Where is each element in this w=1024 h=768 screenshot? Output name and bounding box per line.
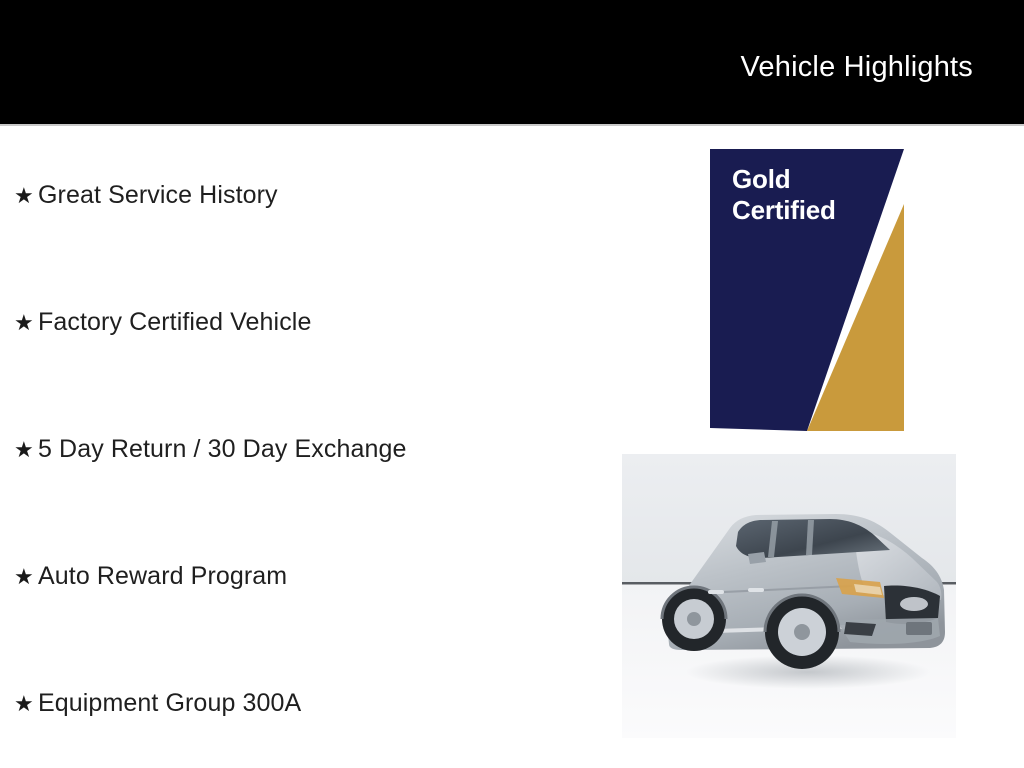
star-icon: ★	[14, 308, 38, 338]
star-icon: ★	[14, 562, 38, 592]
ford-oval-badge	[900, 597, 928, 611]
vehicle-license-plate	[906, 622, 932, 635]
star-icon: ★	[14, 181, 38, 211]
header-bar: Vehicle Highlights	[0, 0, 1024, 124]
vehicle-fog-lamp	[844, 622, 876, 636]
highlight-label: Factory Certified Vehicle	[38, 307, 311, 337]
highlight-label: 5 Day Return / 30 Day Exchange	[38, 434, 406, 464]
list-item: ★ Factory Certified Vehicle	[14, 307, 311, 338]
highlight-label: Great Service History	[38, 180, 278, 210]
rear-wheel-hub	[687, 612, 701, 626]
badge-line-2: Certified	[732, 195, 836, 226]
list-item: ★ Great Service History	[14, 180, 278, 211]
badge-text: Gold Certified	[732, 164, 836, 226]
vehicle-highlights-list: ★ Great Service History ★ Factory Certif…	[0, 128, 600, 768]
list-item: ★ Equipment Group 300A	[14, 688, 301, 719]
vehicle-photo	[622, 454, 956, 738]
header-divider	[0, 124, 1024, 126]
highlight-label: Equipment Group 300A	[38, 688, 301, 718]
gold-certified-badge: Gold Certified	[710, 149, 904, 431]
star-icon: ★	[14, 435, 38, 465]
front-wheel-hub	[794, 624, 810, 640]
list-item: ★ Auto Reward Program	[14, 561, 287, 592]
door-handle-front	[748, 588, 764, 592]
vehicle-photo-illustration	[622, 454, 956, 738]
page-title: Vehicle Highlights	[740, 50, 973, 84]
door-handle-rear	[708, 590, 724, 594]
highlight-label: Auto Reward Program	[38, 561, 287, 591]
star-icon: ★	[14, 689, 38, 719]
side-mirror	[748, 552, 766, 564]
list-item: ★ 5 Day Return / 30 Day Exchange	[14, 434, 406, 465]
badge-line-1: Gold	[732, 164, 836, 195]
